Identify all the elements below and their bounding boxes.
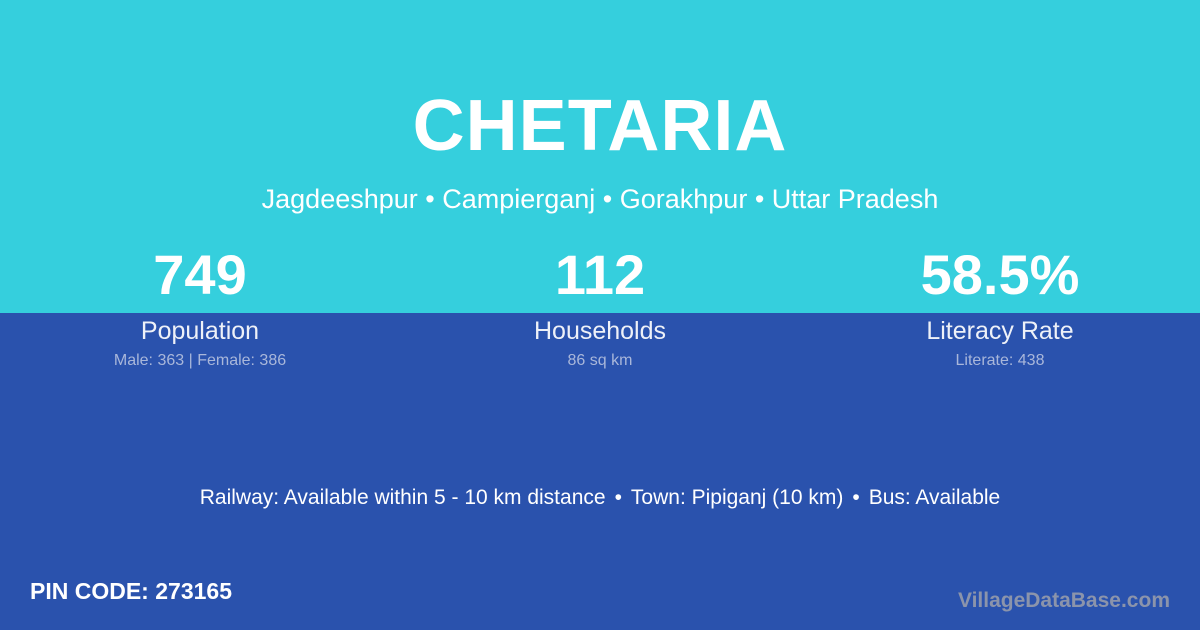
- location-breadcrumb: Jagdeeshpur • Campierganj • Gorakhpur • …: [0, 182, 1200, 216]
- facility-town: Town: Pipiganj (10 km): [631, 486, 843, 509]
- stat-sublabel: 86 sq km: [400, 350, 800, 372]
- stat-value: 749: [0, 240, 400, 313]
- stat-label: Literacy Rate: [800, 316, 1200, 346]
- facility-bus: Bus: Available: [869, 486, 1001, 509]
- bullet-separator-icon: •: [843, 486, 868, 509]
- stat-label: Population: [0, 316, 400, 346]
- pin-code: PIN CODE: 273165: [30, 576, 232, 606]
- site-brand: VillageDataBase.com: [958, 588, 1170, 614]
- stat-value: 58.5%: [800, 240, 1200, 313]
- bullet-separator-icon: •: [606, 486, 631, 509]
- stat-sublabel: Literate: 438: [800, 350, 1200, 372]
- page-title: CHETARIA: [0, 84, 1200, 168]
- stat-households: 112 Households 86 sq km: [400, 240, 800, 380]
- stat-label: Households: [400, 316, 800, 346]
- stat-sublabel: Male: 363 | Female: 386: [0, 350, 400, 372]
- facility-railway: Railway: Available within 5 - 10 km dist…: [200, 486, 606, 509]
- stat-value: 112: [400, 240, 800, 313]
- facilities-line: Railway: Available within 5 - 10 km dist…: [0, 483, 1200, 513]
- stats-row: 749 Population Male: 363 | Female: 386 1…: [0, 240, 1200, 380]
- stat-literacy-rate: 58.5% Literacy Rate Literate: 438: [800, 240, 1200, 380]
- stat-population: 749 Population Male: 363 | Female: 386: [0, 240, 400, 380]
